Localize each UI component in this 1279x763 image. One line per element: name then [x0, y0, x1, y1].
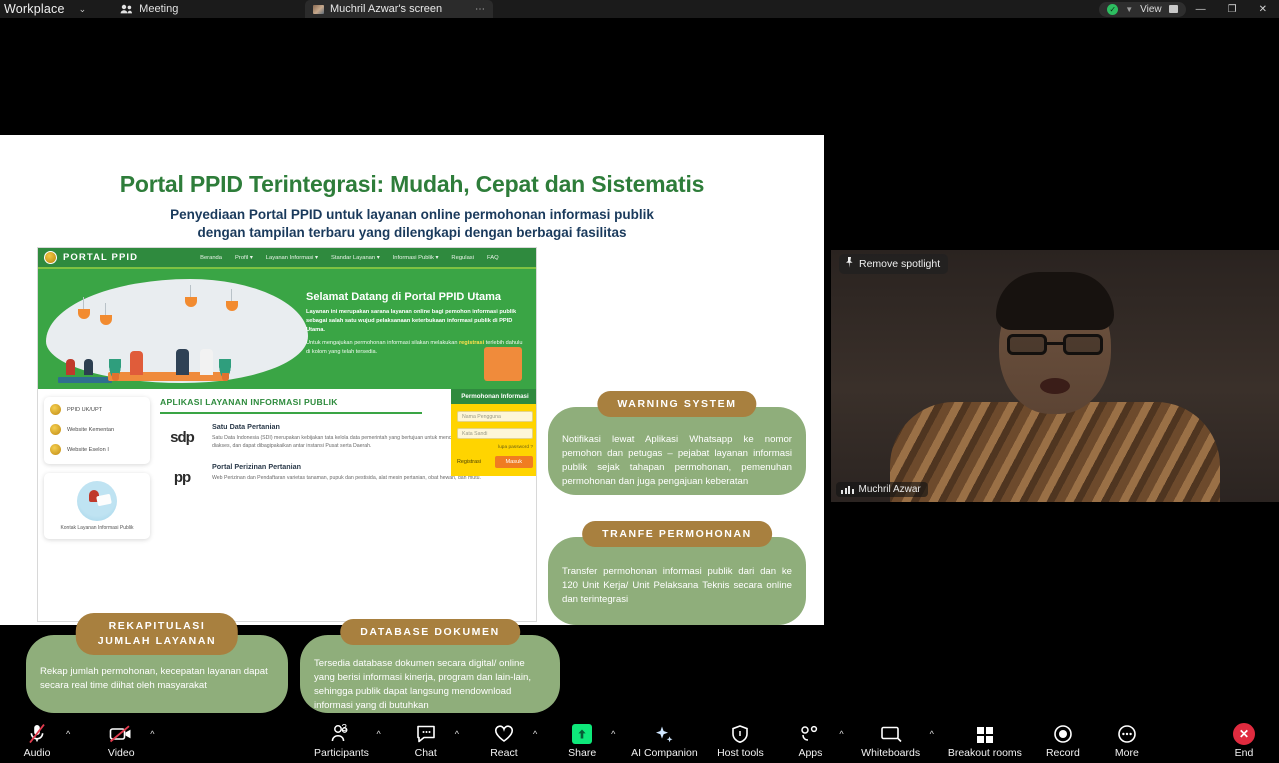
window-buttons: — ❐ ✕: [1196, 4, 1279, 15]
whiteboards-button[interactable]: Whiteboards: [854, 723, 928, 759]
glasses-left-lens-icon: [1007, 334, 1047, 355]
close-button[interactable]: ✕: [1259, 4, 1267, 15]
camera-muted-icon: [109, 723, 133, 745]
menu-item-regulasi[interactable]: Regulasi: [451, 255, 474, 261]
link-badge-icon: [50, 424, 61, 435]
callout-database-dokumen: DATABASE DOKUMEN Tersedia database dokum…: [300, 635, 560, 713]
meeting-label: Meeting: [139, 3, 178, 15]
view-label[interactable]: View: [1140, 4, 1162, 15]
video-chevron-up-icon[interactable]: ^: [150, 729, 154, 739]
callout-caption-line2: JUMLAH LAYANAN: [98, 634, 216, 649]
whiteboards-label: Whiteboards: [861, 747, 920, 759]
slide-subtitle-line1: Penyediaan Portal PPID untuk layanan onl…: [10, 206, 814, 224]
password-input[interactable]: Kata Sandi: [457, 428, 533, 439]
breakout-rooms-button[interactable]: Breakout rooms: [942, 723, 1028, 759]
registration-link[interactable]: registrasi: [459, 340, 484, 346]
mockup-brand: PORTAL PPID: [63, 252, 138, 263]
office-person-illustration: [176, 349, 189, 375]
participant-mouth: [1040, 378, 1070, 394]
participant-body: [890, 402, 1220, 502]
plant-icon: [218, 359, 232, 381]
login-panel-body: Nama Pengguna Kata Sandi lupa password ?…: [451, 404, 537, 476]
whiteboard-icon: [879, 723, 903, 745]
meeting-toolbar: Audio ^ Video ^ 3 Participants ^ Chat ^ …: [0, 718, 1279, 763]
video-button[interactable]: Video: [94, 723, 148, 759]
more-label: More: [1115, 747, 1139, 759]
restore-button[interactable]: ❐: [1228, 4, 1237, 15]
heart-icon: [493, 723, 515, 745]
ppid-logo-icon: [44, 251, 57, 264]
ai-companion-label: AI Companion: [631, 747, 698, 759]
quick-link-website-eselon[interactable]: Website Eselon I: [50, 444, 144, 455]
tab-thumbnail-icon: [313, 5, 324, 14]
shield-icon: [730, 723, 750, 745]
services-divider: [160, 412, 422, 414]
breakout-rooms-icon: [974, 723, 996, 745]
apps-icon: [799, 723, 821, 745]
login-button[interactable]: Masuk: [495, 456, 533, 468]
contact-illustration-icon: [77, 481, 117, 521]
participant-name-badge: Muchril Azwar: [836, 482, 928, 497]
share-screen-icon: [572, 723, 592, 745]
spotlight-video-tile[interactable]: Remove spotlight Muchril Azwar: [831, 250, 1279, 502]
window-right-controls: ✓ ▼ View — ❐ ✕: [1099, 0, 1279, 18]
glasses-bridge-icon: [1046, 342, 1064, 345]
tab-label: Muchril Azwar's screen: [330, 3, 442, 15]
perizinan-logo-icon: pp: [160, 462, 204, 492]
microphone-muted-icon: [27, 723, 47, 745]
plant-icon: [108, 359, 122, 381]
callout-warning-system: WARNING SYSTEM Notifikasi lewat Aplikasi…: [548, 407, 806, 495]
register-link[interactable]: Registrasi: [457, 459, 481, 465]
minimize-button[interactable]: —: [1196, 4, 1206, 15]
link-badge-icon: [50, 444, 61, 455]
ai-companion-button[interactable]: AI Companion: [627, 723, 701, 759]
view-controls-pill[interactable]: ✓ ▼ View: [1099, 2, 1185, 17]
participants-count: 3: [341, 723, 347, 734]
hero-paragraph: Layanan ini merupakan sarana layanan onl…: [306, 308, 528, 334]
hero-heading: Selamat Datang di Portal PPID Utama: [306, 291, 528, 303]
office-person-illustration: [130, 351, 143, 375]
shared-screen-tab[interactable]: Muchril Azwar's screen ⋯: [305, 0, 493, 18]
menu-item-profil[interactable]: Profil ▾: [235, 255, 253, 261]
login-panel-title: Permohonan Informasi: [451, 389, 537, 404]
more-horizontal-icon: [1116, 723, 1138, 745]
apps-chevron-up-icon[interactable]: ^: [839, 729, 843, 739]
menu-item-standar-layanan[interactable]: Standar Layanan ▾: [331, 255, 380, 261]
chat-bubble-icon: [415, 723, 437, 745]
remove-spotlight-button[interactable]: Remove spotlight: [839, 254, 948, 274]
menu-item-informasi-publik[interactable]: Informasi Publik ▾: [393, 255, 439, 261]
callout-caption: REKAPITULASI JUMLAH LAYANAN: [76, 613, 238, 655]
login-actions: Registrasi Masuk: [457, 456, 533, 468]
website-mockup: PORTAL PPID Beranda Profil ▾ Layanan Inf…: [37, 247, 537, 622]
slide-subtitle-line2: dengan tampilan terbaru yang dilengkapi …: [10, 224, 814, 242]
whiteboards-chevron-up-icon[interactable]: ^: [930, 729, 934, 739]
contact-card: Kontak Layanan Informasi Publik: [44, 473, 150, 539]
hero-text-block: Selamat Datang di Portal PPID Utama Laya…: [306, 291, 528, 357]
username-input[interactable]: Nama Pengguna: [457, 411, 533, 422]
audio-label: Audio: [24, 747, 51, 759]
end-label: End: [1235, 747, 1254, 759]
end-call-icon: ✕: [1233, 723, 1255, 745]
encryption-shield-icon[interactable]: ✓: [1107, 4, 1118, 15]
office-person-illustration: [200, 349, 213, 375]
quick-link-label: Website Eselon I: [67, 447, 109, 453]
quick-link-ppid-uk-upt[interactable]: PPID UK/UPT: [50, 404, 144, 415]
shield-chevron-down-icon[interactable]: ▼: [1125, 5, 1133, 14]
mockup-sidebar: PPID UK/UPT Website Kementan Website Ese…: [38, 389, 156, 621]
react-button[interactable]: React: [477, 723, 531, 759]
mockup-services: APLIKASI LAYANAN INFORMASI PUBLIK sdp Sa…: [156, 389, 536, 621]
callout-caption: TRANFE PERMOHONAN: [582, 521, 772, 547]
menu-item-faq[interactable]: FAQ: [487, 255, 499, 261]
record-icon: [1052, 723, 1074, 745]
react-label: React: [490, 747, 517, 759]
menu-item-beranda[interactable]: Beranda: [200, 255, 222, 261]
apps-label: Apps: [798, 747, 822, 759]
hero-note: Untuk mengajukan permohonan informasi si…: [306, 339, 528, 357]
mockup-menu: Beranda Profil ▾ Layanan Informasi ▾ Sta…: [200, 255, 499, 261]
glasses-right-lens-icon: [1063, 334, 1103, 355]
share-chevron-up-icon[interactable]: ^: [611, 729, 615, 739]
share-button[interactable]: Share: [555, 723, 609, 759]
participant-name-label: Muchril Azwar: [859, 484, 921, 495]
office-person-illustration: [66, 359, 75, 375]
sparkle-icon: [653, 723, 675, 745]
callout-caption: WARNING SYSTEM: [597, 391, 756, 417]
quick-link-website-kementan[interactable]: Website Kementan: [50, 424, 144, 435]
callout-body: Tersedia database dokumen secara digital…: [300, 635, 560, 713]
participants-label: Participants: [314, 747, 369, 759]
service-description: Web Perizinan dan Pendaftaran varietas t…: [212, 474, 481, 482]
chat-button[interactable]: Chat: [399, 723, 453, 759]
office-person-illustration: [84, 359, 93, 375]
callout-body: Notifikasi lewat Aplikasi Whatsapp ke no…: [548, 407, 806, 489]
video-label: Video: [108, 747, 135, 759]
pin-icon: [845, 257, 854, 271]
chevron-down-icon[interactable]: ⌄: [79, 4, 87, 15]
slide-title: Portal PPID Terintegrasi: Mudah, Cepat d…: [0, 135, 824, 198]
forgot-password-link[interactable]: lupa password ?: [457, 445, 533, 450]
remove-spotlight-label: Remove spotlight: [859, 258, 940, 270]
audio-level-icon: [841, 485, 854, 494]
participant-hair: [996, 272, 1114, 330]
participants-chevron-up-icon[interactable]: ^: [376, 729, 380, 739]
app-title: Workplace: [0, 2, 65, 16]
chat-label: Chat: [415, 747, 437, 759]
host-tools-label: Host tools: [717, 747, 764, 759]
more-button[interactable]: More: [1098, 723, 1156, 759]
record-label: Record: [1046, 747, 1080, 759]
callout-caption-line1: REKAPITULASI: [98, 619, 216, 634]
contact-caption: Kontak Layanan Informasi Publik: [50, 525, 144, 531]
participants-icon: [120, 4, 133, 14]
mockup-navbar: PORTAL PPID Beranda Profil ▾ Layanan Inf…: [38, 248, 536, 269]
tab-more-icon[interactable]: ⋯: [475, 4, 485, 15]
sdp-logo-icon: sdp: [160, 422, 204, 452]
slide-subtitle: Penyediaan Portal PPID untuk layanan onl…: [0, 206, 824, 242]
login-panel: Permohonan Informasi Nama Pengguna Kata …: [451, 389, 537, 476]
host-tools-button[interactable]: Host tools: [707, 723, 773, 759]
presentation-slide: Portal PPID Terintegrasi: Mudah, Cepat d…: [0, 135, 824, 625]
chat-chevron-up-icon[interactable]: ^: [455, 729, 459, 739]
record-button[interactable]: Record: [1034, 723, 1092, 759]
callout-caption: DATABASE DOKUMEN: [340, 619, 520, 645]
menu-item-layanan-informasi[interactable]: Layanan Informasi ▾: [266, 255, 318, 261]
quick-link-label: PPID UK/UPT: [67, 407, 102, 413]
end-meeting-button[interactable]: ✕ End: [1217, 723, 1271, 759]
side-desk-shape: [58, 377, 112, 383]
quick-links-card: PPID UK/UPT Website Kementan Website Ese…: [44, 397, 150, 464]
service-name: Portal Perizinan Pertanian: [212, 462, 481, 471]
mockup-body: PPID UK/UPT Website Kementan Website Ese…: [38, 389, 536, 621]
mockup-hero: Selamat Datang di Portal PPID Utama Laya…: [38, 269, 536, 389]
hero-note-pre: Untuk mengajukan permohonan informasi si…: [306, 340, 459, 346]
view-layout-icon[interactable]: [1169, 5, 1178, 13]
meeting-nav-item[interactable]: Meeting: [120, 3, 178, 15]
participants-button[interactable]: 3 Participants: [308, 723, 374, 759]
audio-chevron-up-icon[interactable]: ^: [66, 729, 70, 739]
react-chevron-up-icon[interactable]: ^: [533, 729, 537, 739]
audio-button[interactable]: Audio: [10, 723, 64, 759]
callout-transfer-permohonan: TRANFE PERMOHONAN Transfer permohonan in…: [548, 537, 806, 625]
share-label: Share: [568, 747, 596, 759]
callout-rekapitulasi: REKAPITULASI JUMLAH LAYANAN Rekap jumlah…: [26, 635, 288, 713]
callout-body: Transfer permohonan informasi publik dar…: [548, 537, 806, 607]
quick-link-label: Website Kementan: [67, 427, 114, 433]
breakout-rooms-label: Breakout rooms: [948, 747, 1022, 759]
link-badge-icon: [50, 404, 61, 415]
apps-button[interactable]: Apps: [783, 723, 837, 759]
shared-screen-area: Portal PPID Terintegrasi: Mudah, Cepat d…: [0, 18, 824, 718]
window-top-bar: Workplace ⌄ Meeting Muchril Azwar's scre…: [0, 0, 1279, 18]
